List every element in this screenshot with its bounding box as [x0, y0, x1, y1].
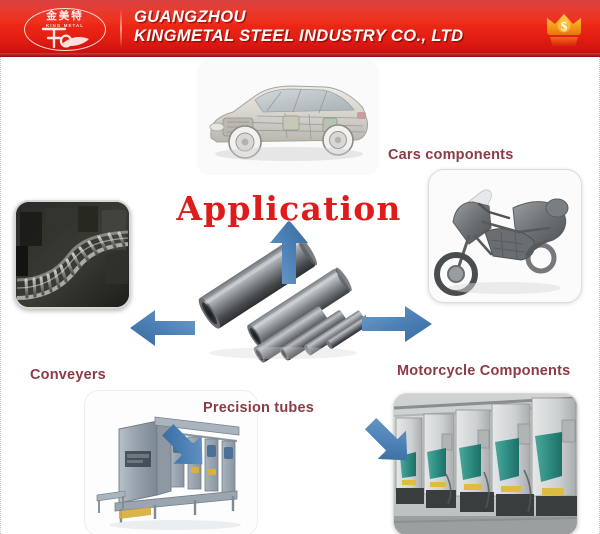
company-header-banner: 金美特 KING METAL GUANGZHOU KINGMETAL STEEL… [0, 0, 600, 57]
car-cutaway-photo [197, 60, 379, 175]
diagram-canvas: Cars components [0, 57, 600, 534]
application-diagram-page: 金美特 KING METAL GUANGZHOU KINGMETAL STEEL… [0, 0, 600, 534]
motorcycle-frame-photo [428, 169, 582, 303]
header-divider [120, 9, 122, 48]
caption-cars-components: Cars components [388, 147, 513, 163]
caption-precision-tubes: Precision tubes [203, 400, 314, 416]
logo-monogram-icon [39, 26, 91, 50]
company-city: GUANGZHOU [134, 8, 534, 27]
company-title: KINGMETAL STEEL INDUSTRY CO., LTD [134, 27, 534, 46]
arrow-down-right-icon [357, 413, 421, 471]
arrow-down-left-icon [153, 417, 215, 475]
page-title: Application [169, 189, 409, 228]
logo-chinese-text: 金美特 [18, 11, 112, 22]
kingmetal-logo: 金美特 KING METAL [18, 6, 112, 53]
arrow-left-icon [127, 307, 197, 349]
caption-conveyers: Conveyers [30, 367, 106, 383]
svg-text:$: $ [561, 19, 568, 34]
company-name-block: GUANGZHOU KINGMETAL STEEL INDUSTRY CO., … [134, 8, 534, 46]
roller-conveyor-photo [14, 200, 131, 309]
crown-dollar-icon: $ [544, 9, 584, 51]
arrow-right-icon [359, 303, 435, 345]
caption-motorcycle-components: Motorcycle Components [397, 363, 570, 379]
